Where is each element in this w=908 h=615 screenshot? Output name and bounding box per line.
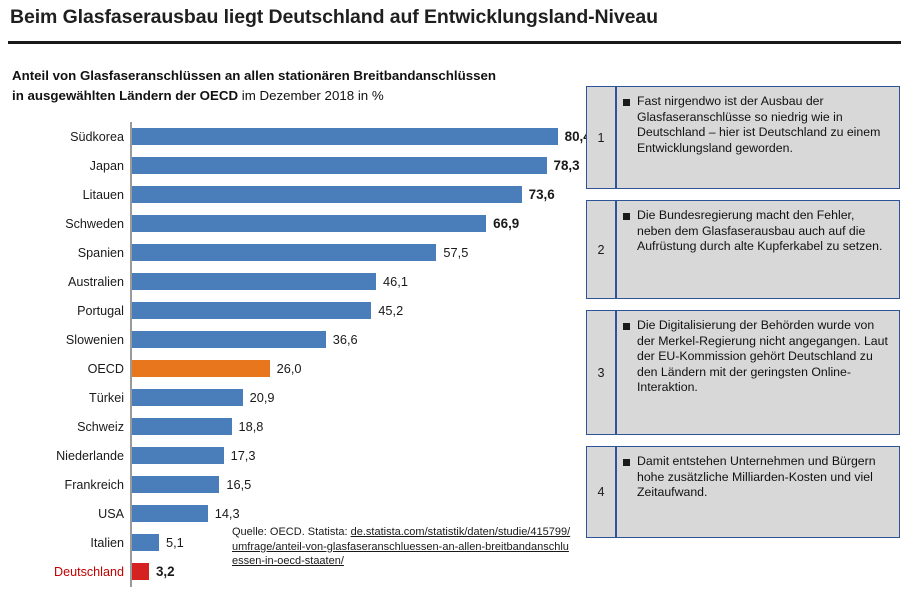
note-text: Die Bundesregierung macht den Fehler, ne…	[637, 208, 891, 291]
chart-bar	[132, 563, 149, 580]
chart-category-label: Australien	[12, 275, 124, 289]
chart-value-label: 73,6	[529, 187, 555, 202]
note-number: 2	[586, 200, 616, 299]
chart-category-label: Slowenien	[12, 333, 124, 347]
chart-bar	[132, 418, 232, 435]
chart-bar-row: Spanien57,5	[12, 240, 597, 269]
source-label: Quelle: OECD. Statista:	[232, 526, 348, 538]
chart-bar-row: Schweiz18,8	[12, 414, 597, 443]
note-block: 4Damit entstehen Unternehmen und Bürgern…	[586, 446, 900, 538]
note-number: 1	[586, 86, 616, 189]
chart-value-label: 36,6	[333, 332, 358, 347]
chart-bar-row: Niederlande17,3	[12, 443, 597, 472]
chart-bar	[132, 389, 243, 406]
chart-category-label: Südkorea	[12, 130, 124, 144]
chart-bar	[132, 128, 558, 145]
note-block: 3Die Digitalisierung der Behörden wurde …	[586, 310, 900, 435]
chart-bar-row: Litauen73,6	[12, 182, 597, 211]
page-title: Beim Glasfaserausbau liegt Deutschland a…	[10, 6, 900, 29]
chart-value-label: 16,5	[226, 477, 251, 492]
note-number: 3	[586, 310, 616, 435]
chart-subtitle-line2: in ausgewählten Ländern der OECD	[12, 88, 238, 103]
chart-bar	[132, 476, 219, 493]
chart-bar	[132, 157, 547, 174]
bullet-icon	[623, 459, 630, 466]
chart-value-label: 26,0	[277, 361, 302, 376]
chart-bar-row: Portugal45,2	[12, 298, 597, 327]
bullet-icon	[623, 213, 630, 220]
chart-bar	[132, 215, 486, 232]
chart-bar	[132, 273, 376, 290]
note-number: 4	[586, 446, 616, 538]
chart-bar	[132, 534, 159, 551]
chart-bar	[132, 186, 522, 203]
notes-panel: 1Fast nirgendwo ist der Ausbau der Glasf…	[586, 86, 900, 549]
bullet-icon	[623, 99, 630, 106]
chart-subtitle-line1: Anteil von Glasfaseranschlüssen an allen…	[12, 68, 496, 83]
chart-bar-row: Südkorea80,4	[12, 124, 597, 153]
chart-value-label: 57,5	[443, 245, 468, 260]
chart-value-label: 78,3	[554, 158, 580, 173]
chart-bar-row: OECD26,0	[12, 356, 597, 385]
note-body: Fast nirgendwo ist der Ausbau der Glasfa…	[616, 86, 900, 189]
chart-category-label: Italien	[12, 536, 124, 550]
chart-category-label: Portugal	[12, 304, 124, 318]
chart-bar	[132, 447, 224, 464]
chart-bar-row: Australien46,1	[12, 269, 597, 298]
chart-category-label: Spanien	[12, 246, 124, 260]
note-text: Damit entstehen Unternehmen und Bürgern …	[637, 454, 891, 530]
chart-bar-row: Japan78,3	[12, 153, 597, 182]
chart-category-label: Schweden	[12, 217, 124, 231]
chart-category-label: USA	[12, 507, 124, 521]
chart-category-label: Schweiz	[12, 420, 124, 434]
note-text: Die Digitalisierung der Behörden wurde v…	[637, 318, 891, 427]
chart-value-label: 66,9	[493, 216, 519, 231]
chart-bar	[132, 360, 270, 377]
infographic-page: Beim Glasfaserausbau liegt Deutschland a…	[0, 0, 908, 615]
chart-bar-row: Slowenien36,6	[12, 327, 597, 356]
chart-bar	[132, 244, 436, 261]
chart-value-label: 14,3	[215, 506, 240, 521]
chart-subtitle: Anteil von Glasfaseranschlüssen an allen…	[12, 66, 592, 106]
chart-category-label: Niederlande	[12, 449, 124, 463]
chart-category-label: Frankreich	[12, 478, 124, 492]
note-body: Damit entstehen Unternehmen und Bürgern …	[616, 446, 900, 538]
chart-subtitle-line2-period: im Dezember 2018 in %	[238, 88, 384, 103]
chart-category-label: Deutschland	[12, 565, 124, 579]
note-body: Die Digitalisierung der Behörden wurde v…	[616, 310, 900, 435]
note-text: Fast nirgendwo ist der Ausbau der Glasfa…	[637, 94, 891, 181]
chart-bar-row: Frankreich16,5	[12, 472, 597, 501]
chart-bar	[132, 331, 326, 348]
chart-bar	[132, 302, 371, 319]
chart-value-label: 5,1	[166, 535, 184, 550]
title-divider	[8, 41, 901, 44]
chart-value-label: 3,2	[156, 564, 175, 579]
chart-bar	[132, 505, 208, 522]
chart-category-label: Litauen	[12, 188, 124, 202]
chart-value-label: 20,9	[250, 390, 275, 405]
chart-category-label: Japan	[12, 159, 124, 173]
note-block: 2Die Bundesregierung macht den Fehler, n…	[586, 200, 900, 299]
chart-bar-row: Türkei20,9	[12, 385, 597, 414]
chart-value-label: 46,1	[383, 274, 408, 289]
note-body: Die Bundesregierung macht den Fehler, ne…	[616, 200, 900, 299]
chart-value-label: 45,2	[378, 303, 403, 318]
chart-category-label: Türkei	[12, 391, 124, 405]
chart-value-label: 17,3	[231, 448, 256, 463]
chart-value-label: 18,8	[239, 419, 264, 434]
chart-category-label: OECD	[12, 362, 124, 376]
note-block: 1Fast nirgendwo ist der Ausbau der Glasf…	[586, 86, 900, 189]
source-note: Quelle: OECD. Statista: de.statista.com/…	[232, 525, 572, 569]
bullet-icon	[623, 323, 630, 330]
chart-bar-row: Schweden66,9	[12, 211, 597, 240]
